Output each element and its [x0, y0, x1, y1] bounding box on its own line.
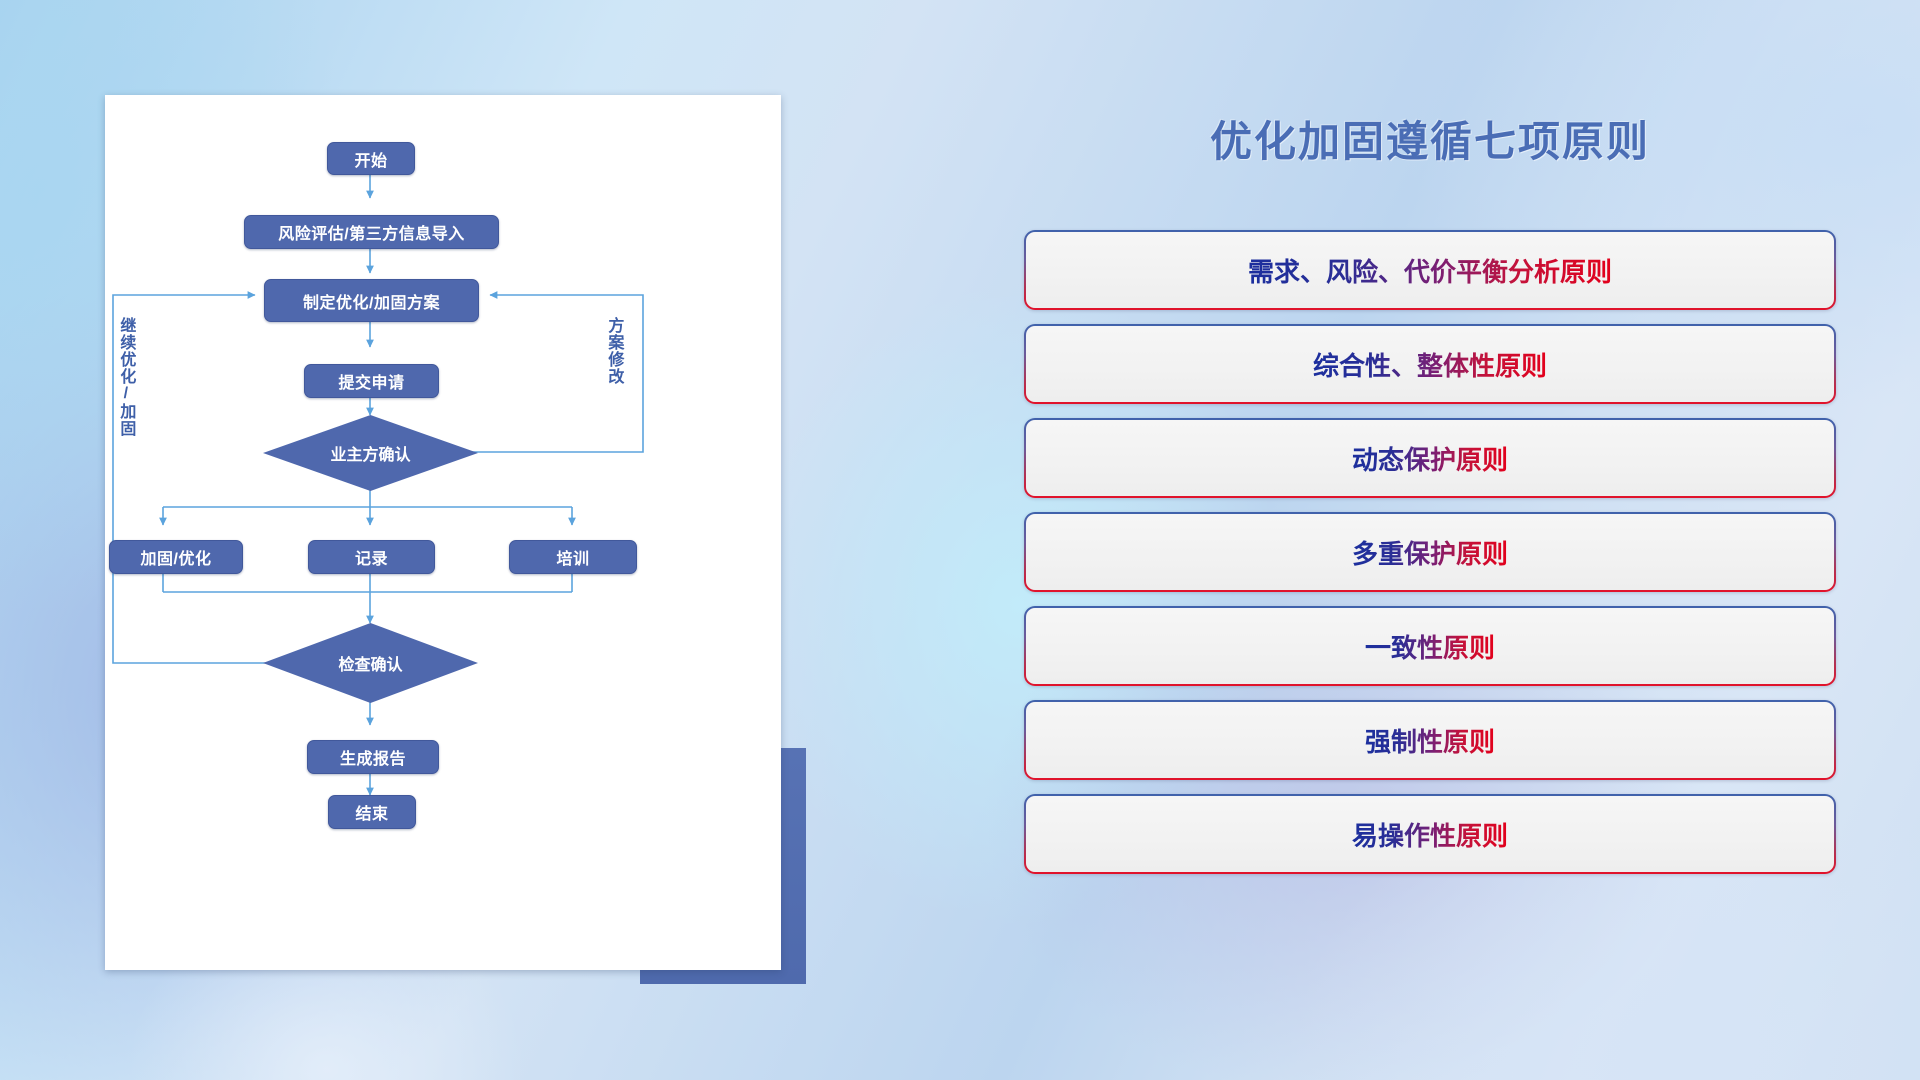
- flow-node-generate-report[interactable]: 生成报告: [307, 740, 439, 774]
- principle-item[interactable]: 综合性、整体性原则: [1024, 324, 1836, 404]
- flow-node-check-confirm[interactable]: 检查确认: [263, 623, 478, 703]
- flow-node-reinforce-label: 加固/优化: [141, 545, 212, 569]
- principle-item[interactable]: 多重保护原则: [1024, 512, 1836, 592]
- principle-label: 需求、风险、代价平衡分析原则: [1248, 252, 1612, 289]
- edge-label-plan-revision: 方案修改: [605, 317, 621, 385]
- principle-item[interactable]: 需求、风险、代价平衡分析原则: [1024, 230, 1836, 310]
- flow-node-owner-confirm[interactable]: 业主方确认: [263, 415, 478, 491]
- flow-node-risk-assessment-label: 风险评估/第三方信息导入: [278, 220, 464, 244]
- principle-label: 一致性原则: [1365, 628, 1495, 665]
- principle-item-inner: 综合性、整体性原则: [1026, 326, 1834, 402]
- principle-item-inner: 多重保护原则: [1026, 514, 1834, 590]
- flow-node-plan-label: 制定优化/加固方案: [303, 289, 440, 313]
- flow-node-end[interactable]: 结束: [328, 795, 416, 829]
- edge-label-continue-optimize: 继续优化/加固: [117, 317, 133, 437]
- principle-item-inner: 动态保护原则: [1026, 420, 1834, 496]
- principle-item-inner: 一致性原则: [1026, 608, 1834, 684]
- principle-item-inner: 需求、风险、代价平衡分析原则: [1026, 232, 1834, 308]
- flow-node-start-label: 开始: [354, 147, 387, 171]
- flow-node-training-label: 培训: [556, 545, 589, 569]
- principle-label: 强制性原则: [1365, 722, 1495, 759]
- flow-node-start[interactable]: 开始: [327, 142, 415, 175]
- flow-node-training[interactable]: 培训: [509, 540, 637, 574]
- principle-item[interactable]: 易操作性原则: [1024, 794, 1836, 874]
- flow-node-end-label: 结束: [355, 800, 388, 824]
- principle-label: 综合性、整体性原则: [1313, 346, 1547, 383]
- principle-label: 动态保护原则: [1352, 440, 1508, 477]
- flow-node-submit-application[interactable]: 提交申请: [304, 364, 439, 398]
- flow-node-record-label: 记录: [355, 545, 388, 569]
- principles-list: 需求、风险、代价平衡分析原则 综合性、整体性原则 动态保护原则 多重保护原则 一…: [1024, 230, 1836, 888]
- principle-item[interactable]: 动态保护原则: [1024, 418, 1836, 498]
- flow-node-owner-confirm-label: 业主方确认: [330, 441, 410, 465]
- flow-node-reinforce[interactable]: 加固/优化: [109, 540, 243, 574]
- principle-item[interactable]: 一致性原则: [1024, 606, 1836, 686]
- panel-title: 优化加固遵循七项原则: [1000, 108, 1860, 169]
- flow-node-generate-report-label: 生成报告: [340, 745, 406, 769]
- principles-panel: 优化加固遵循七项原则 需求、风险、代价平衡分析原则 综合性、整体性原则 动态保护…: [1000, 60, 1860, 1020]
- principle-label: 多重保护原则: [1352, 534, 1508, 571]
- flow-node-risk-assessment[interactable]: 风险评估/第三方信息导入: [244, 215, 499, 249]
- flow-node-plan[interactable]: 制定优化/加固方案: [264, 279, 479, 322]
- flow-node-record[interactable]: 记录: [308, 540, 435, 574]
- principle-item[interactable]: 强制性原则: [1024, 700, 1836, 780]
- principle-item-inner: 易操作性原则: [1026, 796, 1834, 872]
- flow-node-submit-application-label: 提交申请: [338, 369, 404, 393]
- principle-label: 易操作性原则: [1352, 816, 1508, 853]
- principle-item-inner: 强制性原则: [1026, 702, 1834, 778]
- flow-node-check-confirm-label: 检查确认: [338, 651, 402, 675]
- flowchart-card: 开始 风险评估/第三方信息导入 制定优化/加固方案 提交申请 业主方确认 加固/…: [105, 95, 781, 970]
